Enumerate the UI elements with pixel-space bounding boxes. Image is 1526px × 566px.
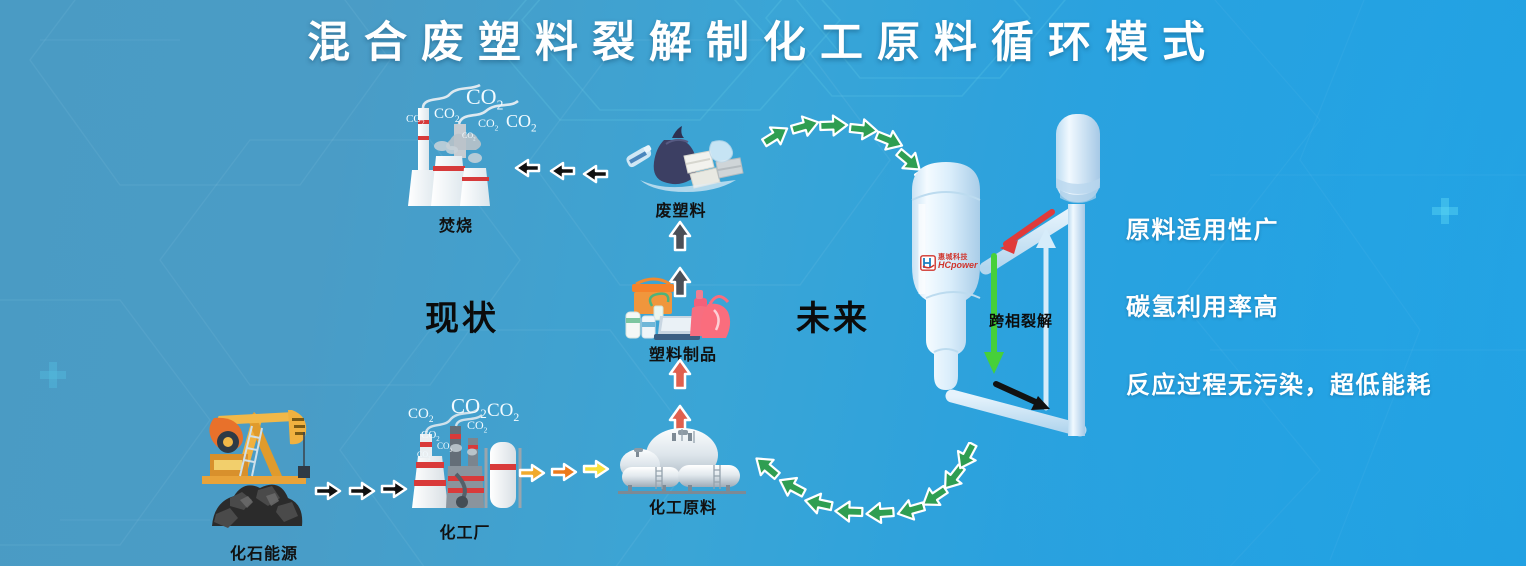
node-label-fossil-energy: 化石能源 <box>220 540 308 564</box>
benefit-item-1: 原料适用性广 <box>1126 210 1279 245</box>
node-label-chem-plant: 化工厂 <box>428 519 502 543</box>
co2-label-top-6: CO2 <box>462 131 476 143</box>
co2-label-plant-7: CO2 <box>417 450 431 462</box>
page-title: 混合废塑料裂解制化工原料循环模式 <box>0 8 1526 70</box>
co2-label-top-5: CO2 <box>478 116 498 132</box>
co2-label-top-2: CO2 <box>434 106 460 125</box>
accent-plus-icon-right <box>1432 198 1458 224</box>
benefit-item-2: 碳氢利用率高 <box>1126 287 1279 322</box>
section-label-current: 现状 <box>425 291 499 340</box>
accent-plus-icon-left <box>40 362 56 378</box>
arrow-plant-to-feedstock <box>518 458 614 488</box>
section-label-future: 未来 <box>796 291 870 340</box>
plastic-goods-illustration <box>622 276 744 344</box>
co2-label-plant-6: CO2 <box>437 441 452 454</box>
arrow-arc-reactor-to-feedstock <box>742 442 994 554</box>
arrow-waste-to-incineration <box>506 152 612 184</box>
benefit-item-3: 反应过程无污染，超低能耗 <box>1126 365 1432 400</box>
co2-label-plant-2: CO2 <box>408 406 434 425</box>
fossil-energy-illustration <box>196 398 324 530</box>
process-label-cross-phase-pyrolysis: 跨相裂解 <box>989 310 1053 331</box>
chemical-feedstock-illustration <box>616 425 748 495</box>
logo-text: 惠城科技 HCpower <box>938 254 978 270</box>
co2-label-plant-4: CO2 <box>467 418 487 434</box>
infographic-canvas: 混合废塑料裂解制化工原料循环模式 现状 未来 <box>0 0 1526 566</box>
co2-label-top-1: CO2 <box>466 84 503 113</box>
co2-label-top-4: CO2 <box>506 111 537 135</box>
node-label-chem-feedstock: 化工原料 <box>638 494 728 518</box>
co2-label-plant-3: CO2 <box>487 400 519 425</box>
logo-text-en: HCpower <box>938 261 978 270</box>
arrow-fossil-to-plant <box>312 478 416 506</box>
co2-label-top-3: CO2 <box>406 113 425 127</box>
waste-plastic-illustration <box>620 118 750 198</box>
logo-mark-icon <box>920 255 936 271</box>
node-label-incineration: 焚烧 <box>416 212 496 236</box>
incineration-illustration <box>392 84 532 208</box>
company-logo: 惠城科技 HCpower <box>920 252 982 282</box>
